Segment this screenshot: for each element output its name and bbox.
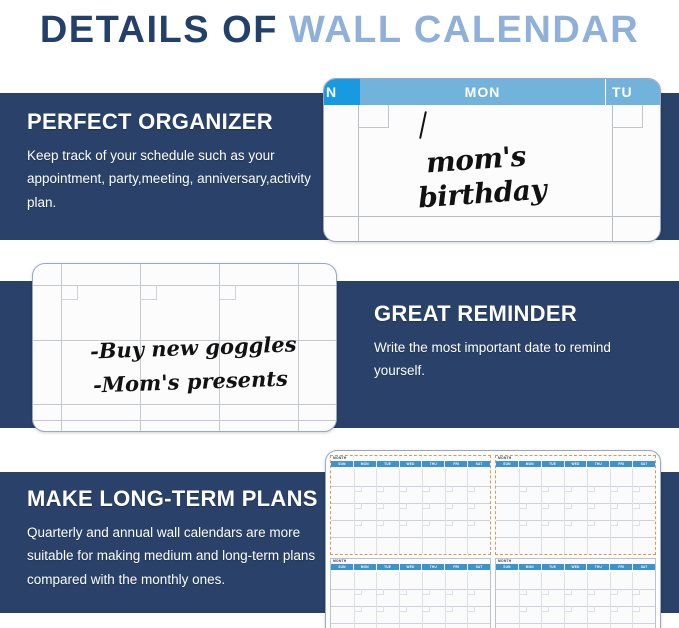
day-header-mon: MON — [519, 461, 542, 467]
month-grid — [496, 572, 655, 628]
feature-heading-2: GREAT REMINDER — [374, 302, 664, 326]
month-block-3: MONTH SUN MON TUE WED THU FRI SAT — [330, 558, 491, 628]
handwritten-todo-line2: -Mom's presents — [93, 366, 289, 398]
day-header-wed: WED — [400, 564, 423, 570]
day-header-row: SUN MON TUE WED THU FRI SAT — [331, 461, 490, 467]
feature-heading-3: MAKE LONG-TERM PLANS — [27, 487, 327, 511]
day-header-thu: THU — [422, 564, 445, 570]
calendar-grid: -Buy new goggles -Mom's presents — [33, 264, 336, 431]
day-header-tue: TUE — [542, 461, 565, 467]
day-header-fri: FRI — [610, 564, 633, 570]
feature-body-3: Quarterly and annual wall calendars are … — [27, 521, 327, 591]
day-header-fri: FRI — [445, 564, 468, 570]
day-header-sun: N — [324, 79, 360, 105]
page-title: DETAILS OF WALL CALENDAR — [0, 0, 679, 60]
day-header-wed: WED — [565, 564, 588, 570]
feature-text-2: GREAT REMINDER Write the most important … — [374, 302, 664, 383]
day-header-sun: SUN — [331, 564, 354, 570]
day-header-sat: SAT — [468, 564, 490, 570]
day-header-fri: FRI — [610, 461, 633, 467]
handwritten-tick — [419, 111, 427, 139]
day-header-row: SUN MON TUE WED THU FRI SAT — [496, 461, 655, 467]
day-header-wed: WED — [565, 461, 588, 467]
month-block-4: MONTH SUN MON TUE WED THU FRI SAT — [495, 558, 656, 628]
day-header-sat: SAT — [468, 461, 490, 467]
calendar-card-todo: -Buy new goggles -Mom's presents — [32, 263, 337, 432]
day-header-tue: TUE — [542, 564, 565, 570]
day-header-mon: MON — [354, 564, 377, 570]
feature-body-1: Keep track of your schedule such as your… — [27, 144, 317, 214]
day-header-thu: THU — [587, 564, 610, 570]
day-header-thu: THU — [422, 461, 445, 467]
calendar-day-header-row: N MON TU — [324, 79, 660, 105]
day-header-row: SUN MON TUE WED THU FRI SAT — [331, 564, 490, 570]
feature-body-2: Write the most important date to remind … — [374, 336, 664, 382]
month-block-1: MONTH SUN MON TUE WED THU FRI SAT — [330, 455, 491, 555]
page-title-primary: DETAILS OF — [40, 11, 278, 49]
day-header-thu: THU — [587, 461, 610, 467]
calendar-card-quarterly: MONTH SUN MON TUE WED THU FRI SAT — [325, 450, 661, 628]
handwritten-todo-line1: -Buy new goggles — [90, 331, 297, 363]
day-header-sat: SAT — [633, 461, 655, 467]
day-header-sat: SAT — [633, 564, 655, 570]
day-header-sun: SUN — [331, 461, 354, 467]
month-grid — [331, 469, 490, 554]
day-header-sun: SUN — [496, 461, 519, 467]
month-grid — [496, 469, 655, 554]
calendar-grid: mom's birthday — [324, 105, 660, 241]
day-header-tue: TUE — [377, 564, 400, 570]
calendar-card-birthday: N MON TU mom's birthday — [323, 78, 661, 242]
day-header-mon: MON — [360, 79, 605, 105]
day-header-fri: FRI — [445, 461, 468, 467]
feature-text-3: MAKE LONG-TERM PLANS Quarterly and annua… — [27, 487, 327, 591]
month-grid — [331, 572, 490, 628]
handwritten-note-line2: birthday — [417, 173, 547, 215]
day-header-tue: TU — [605, 79, 660, 105]
product-detail-infographic: DETAILS OF WALL CALENDAR N MON TU mom's … — [0, 0, 679, 628]
month-block-2: MONTH SUN MON TUE WED THU FRI SAT — [495, 455, 656, 555]
handwritten-note-line1: mom's — [425, 140, 527, 180]
day-header-mon: MON — [519, 564, 542, 570]
day-header-wed: WED — [400, 461, 423, 467]
day-header-tue: TUE — [377, 461, 400, 467]
feature-text-1: PERFECT ORGANIZER Keep track of your sch… — [27, 110, 317, 214]
day-header-row: SUN MON TUE WED THU FRI SAT — [496, 564, 655, 570]
day-header-sun: SUN — [496, 564, 519, 570]
page-title-secondary: WALL CALENDAR — [289, 11, 639, 49]
feature-heading-1: PERFECT ORGANIZER — [27, 110, 317, 134]
day-header-mon: MON — [354, 461, 377, 467]
